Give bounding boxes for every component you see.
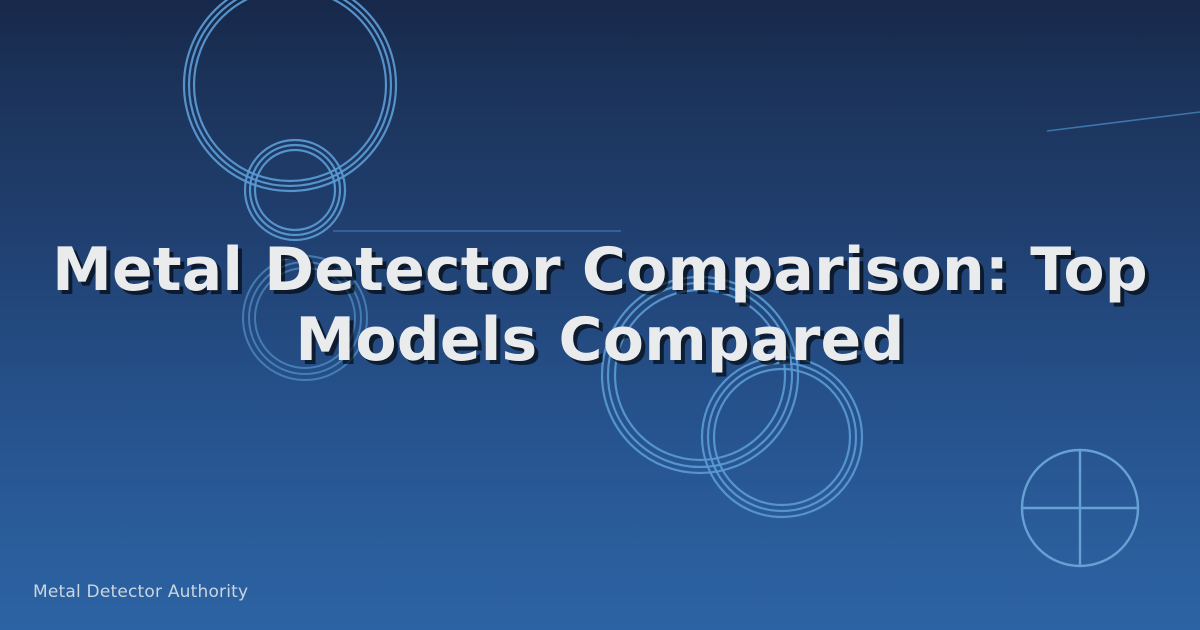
footer-brand: Metal Detector Authority [33,582,248,602]
ring-cluster-upper-small-icon [245,140,345,240]
crosshair-target-icon [1022,450,1138,566]
title-line-2: Models Compared [295,305,904,375]
slide-title-block: Metal Detector Comparison: TopModels Com… [0,236,1200,375]
page-title: Metal Detector Comparison: TopModels Com… [40,236,1160,375]
ring-cluster-top-left-icon [184,0,396,191]
presentation-slide: Metal Detector Comparison: TopModels Com… [0,0,1200,630]
ring-cluster-center-lower-icon [702,357,862,517]
accent-line-diagonal [1047,112,1200,131]
title-line-1: Metal Detector Comparison: Top [52,235,1148,305]
